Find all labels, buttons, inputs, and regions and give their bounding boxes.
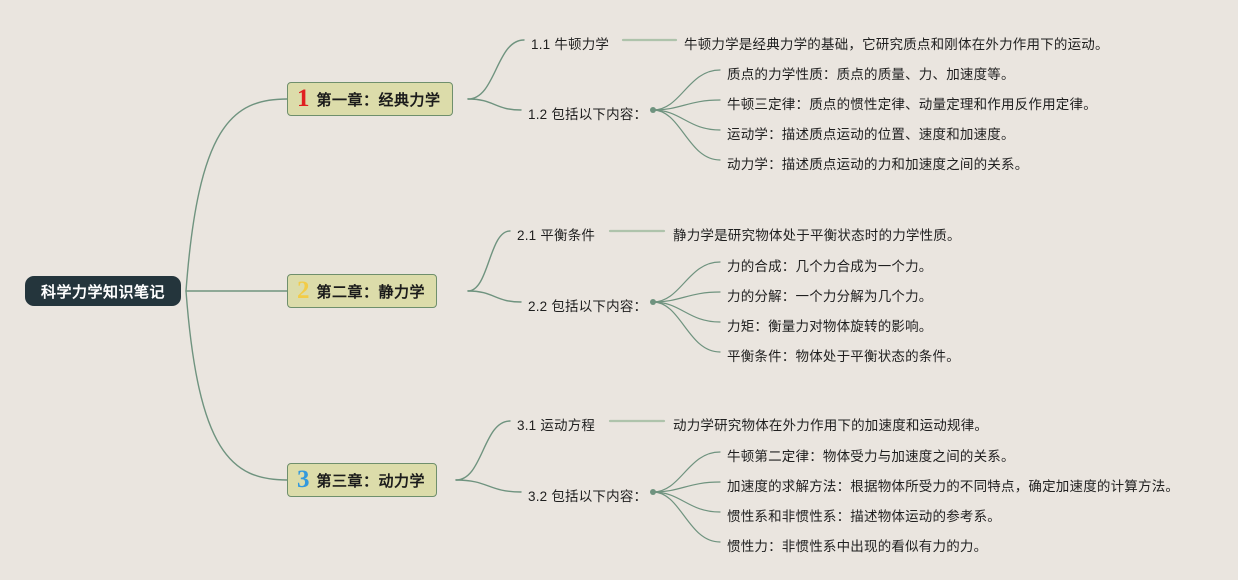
link-root-chapter-3 (186, 291, 287, 480)
section-label-2-1[interactable]: 2.1 平衡条件 (517, 224, 595, 244)
leaf-3-2-2[interactable]: 惯性系和非惯性系：描述物体运动的参考系。 (727, 505, 1001, 525)
link-fan-3-leaf-3 (653, 492, 720, 512)
root-node-label: 科学力学知识笔记 (41, 281, 165, 302)
chapter-node-2[interactable]: 2 第二章：静力学 (287, 274, 437, 308)
link-fan-1-leaf-3 (653, 110, 720, 130)
leaf-3-2-1[interactable]: 加速度的求解方法：根据物体所受力的不同特点，确定加速度的计算方法。 (727, 475, 1179, 495)
chapter-node-3[interactable]: 3 第三章：动力学 (287, 463, 437, 497)
leaf-1-1-0[interactable]: 牛顿力学是经典力学的基础，它研究质点和刚体在外力作用下的运动。 (684, 33, 1109, 53)
chapter-number-3: 3 (297, 467, 310, 492)
link-chapter-2-section-2 (468, 291, 521, 302)
link-fan-2-leaf-3 (653, 302, 720, 322)
link-fan-2-leaf-4 (653, 302, 720, 352)
chapter-node-1[interactable]: 1 第一章：经典力学 (287, 82, 453, 116)
link-fan-1-leaf-1 (653, 70, 720, 110)
chapter-number-2: 2 (297, 278, 310, 303)
link-fan-2-leaf-1 (653, 262, 720, 302)
fan-hub-3 (650, 489, 656, 495)
section-label-3-2[interactable]: 3.2 包括以下内容： (528, 485, 647, 505)
section-label-1-1[interactable]: 1.1 牛顿力学 (531, 33, 609, 53)
leaf-1-2-0[interactable]: 质点的力学性质：质点的质量、力、加速度等。 (727, 63, 1015, 83)
mindmap-canvas: 科学力学知识笔记 1 第一章：经典力学 2 第二章：静力学 3 第三章：动力学 … (0, 0, 1238, 580)
leaf-3-2-3[interactable]: 惯性力：非惯性系中出现的看似有力的力。 (727, 535, 987, 555)
leaf-3-2-0[interactable]: 牛顿第二定律：物体受力与加速度之间的关系。 (727, 445, 1015, 465)
link-chapter-3-section-1 (456, 421, 510, 480)
link-fan-2-leaf-2 (653, 292, 720, 302)
section-label-2-2[interactable]: 2.2 包括以下内容： (528, 295, 647, 315)
fan-hub-2 (650, 299, 656, 305)
leaf-1-2-2[interactable]: 运动学：描述质点运动的位置、速度和加速度。 (727, 123, 1015, 143)
root-node[interactable]: 科学力学知识笔记 (25, 276, 181, 306)
link-fan-3-leaf-4 (653, 492, 720, 542)
link-fan-1-leaf-4 (653, 110, 720, 160)
link-chapter-2-section-1 (468, 231, 510, 291)
leaf-2-2-0[interactable]: 力的合成：几个力合成为一个力。 (727, 255, 933, 275)
leaf-2-2-3[interactable]: 平衡条件：物体处于平衡状态的条件。 (727, 345, 960, 365)
link-fan-1-leaf-2 (653, 100, 720, 110)
chapter-label-2: 第二章：静力学 (317, 281, 426, 302)
leaf-2-2-1[interactable]: 力的分解：一个力分解为几个力。 (727, 285, 933, 305)
link-fan-3-leaf-2 (653, 482, 720, 492)
link-chapter-3-section-2 (456, 480, 521, 492)
chapter-label-1: 第一章：经典力学 (317, 89, 441, 110)
chapter-number-1: 1 (297, 86, 310, 111)
link-root-chapter-1 (186, 99, 287, 291)
leaf-2-2-2[interactable]: 力矩：衡量力对物体旋转的影响。 (727, 315, 933, 335)
section-label-1-2[interactable]: 1.2 包括以下内容： (528, 103, 647, 123)
leaf-2-1-0[interactable]: 静力学是研究物体处于平衡状态时的力学性质。 (673, 224, 961, 244)
chapter-label-3: 第三章：动力学 (317, 470, 426, 491)
leaf-1-2-1[interactable]: 牛顿三定律：质点的惯性定律、动量定理和作用反作用定律。 (727, 93, 1097, 113)
section-label-3-1[interactable]: 3.1 运动方程 (517, 414, 595, 434)
leaf-1-2-3[interactable]: 动力学：描述质点运动的力和加速度之间的关系。 (727, 153, 1028, 173)
link-chapter-1-section-2 (468, 99, 521, 110)
leaf-3-1-0[interactable]: 动力学研究物体在外力作用下的加速度和运动规律。 (673, 414, 988, 434)
fan-hub-1 (650, 107, 656, 113)
link-chapter-1-section-1 (468, 40, 524, 99)
link-fan-3-leaf-1 (653, 452, 720, 492)
